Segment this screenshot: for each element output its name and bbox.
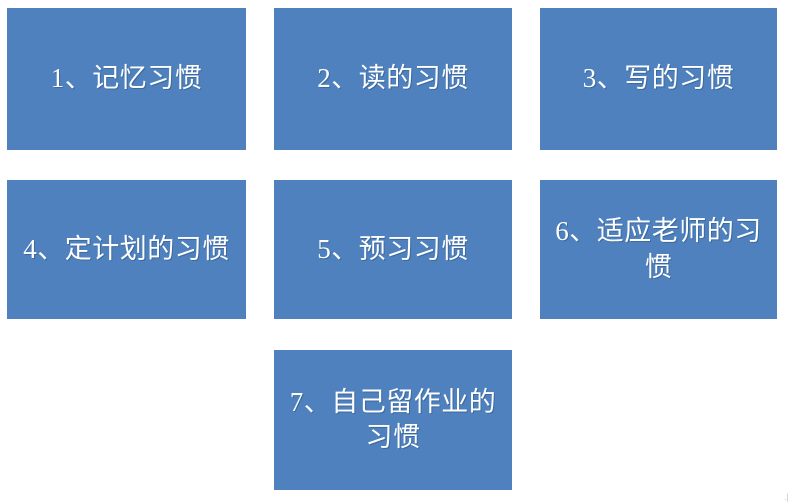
habit-box-6[interactable]: 6、适应老师的习 惯 <box>540 180 777 319</box>
habit-box-7-label: 7、自己留作业的 习惯 <box>290 385 497 455</box>
habit-box-1[interactable]: 1、记忆习惯 <box>7 8 246 150</box>
habit-box-2-label: 2、读的习惯 <box>317 61 469 96</box>
habit-box-6-label: 6、适应老师的习 惯 <box>555 214 762 284</box>
habit-box-4[interactable]: 4、定计划的习惯 <box>7 180 246 319</box>
habit-box-1-label: 1、记忆习惯 <box>51 61 203 96</box>
corner-artifact-mark: .| <box>784 493 790 501</box>
diagram-canvas: 1、记忆习惯 2、读的习惯 3、写的习惯 4、定计划的习惯 5、预习习惯 6、适… <box>0 0 794 503</box>
habit-box-2[interactable]: 2、读的习惯 <box>274 8 512 150</box>
habit-box-3[interactable]: 3、写的习惯 <box>540 8 777 150</box>
habit-box-4-label: 4、定计划的习惯 <box>23 232 230 267</box>
habit-box-5[interactable]: 5、预习习惯 <box>274 180 512 319</box>
habit-box-5-label: 5、预习习惯 <box>317 232 469 267</box>
habit-box-3-label: 3、写的习惯 <box>583 61 735 96</box>
habit-box-7[interactable]: 7、自己留作业的 习惯 <box>274 350 512 490</box>
